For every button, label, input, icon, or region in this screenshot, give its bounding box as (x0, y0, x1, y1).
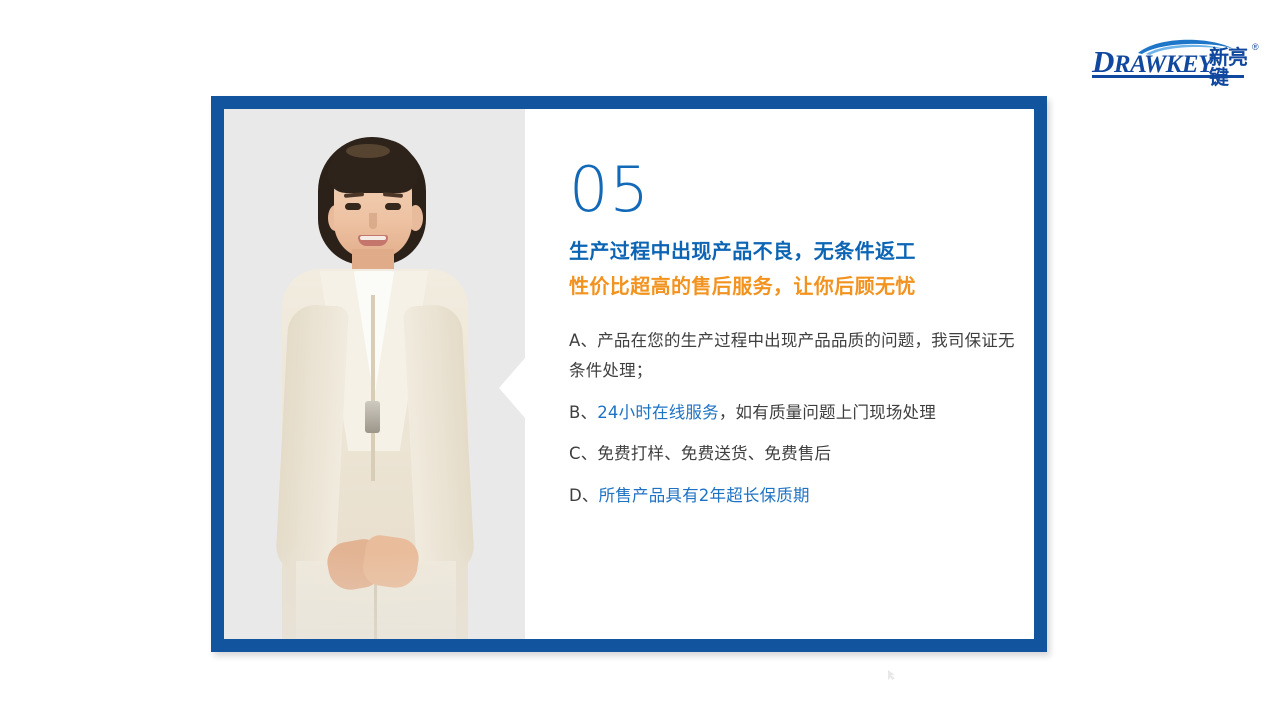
logo-wordmark: DRAWKEY (1092, 46, 1213, 77)
bullet-marker: A、 (569, 331, 597, 350)
mouse-cursor-icon (888, 670, 895, 680)
subheadline: 性价比超高的售后服务，让你后顾无忧 (569, 273, 1024, 300)
businesswoman-photo (224, 109, 525, 639)
bullet-marker: B、 (569, 403, 597, 422)
bullet-marker: D、 (569, 486, 599, 505)
bullet-text: ，如有质量问题上门现场处理 (719, 403, 936, 422)
bullet-marker: C、 (569, 444, 597, 463)
list-item: D、所售产品具有2年超长保质期 (569, 481, 1024, 512)
text-panel: 05 生产过程中出现产品不良，无条件返工 性价比超高的售后服务，让你后顾无忧 A… (525, 109, 1034, 639)
figure-eye-right (385, 203, 401, 210)
bullet-text: 所售产品具有2年超长保质期 (599, 486, 810, 505)
logo-chinese-name: 新亮键 (1209, 47, 1260, 87)
list-item: C、免费打样、免费送货、免费售后 (569, 439, 1024, 470)
list-item: A、产品在您的生产过程中出现产品品质的问题，我司保证无条件处理； (569, 326, 1024, 387)
registered-trademark-icon: ® (1252, 42, 1259, 52)
figure-jacket-placket (371, 295, 375, 481)
brand-logo: DRAWKEY 新亮键 ® (1092, 38, 1260, 84)
headline: 生产过程中出现产品不良，无条件返工 (569, 238, 1024, 265)
bullet-text: 产品在您的生产过程中出现产品品质的问题，我司保证无条件处理； (569, 331, 1015, 381)
photo-panel (224, 109, 525, 639)
figure-nose (369, 213, 377, 229)
figure-teeth (360, 236, 386, 240)
section-number: 05 (569, 161, 1024, 220)
figure-eye-left (345, 203, 361, 210)
bullet-highlight: 24小时在线服务 (597, 403, 719, 422)
bullet-text: 免费打样、免费送货、免费售后 (597, 444, 831, 463)
figure-jacket-clasp (365, 401, 380, 433)
list-item: B、24小时在线服务，如有质量问题上门现场处理 (569, 398, 1024, 429)
figure-hair-highlight (346, 144, 390, 158)
logo-wordmark-capital: D (1092, 44, 1114, 79)
benefit-list: A、产品在您的生产过程中出现产品品质的问题，我司保证无条件处理； B、24小时在… (569, 326, 1024, 512)
logo-wordmark-rest: RAWKEY (1114, 51, 1213, 78)
logo-underline (1092, 75, 1244, 78)
content-card: 05 生产过程中出现产品不良，无条件返工 性价比超高的售后服务，让你后顾无忧 A… (211, 96, 1047, 652)
